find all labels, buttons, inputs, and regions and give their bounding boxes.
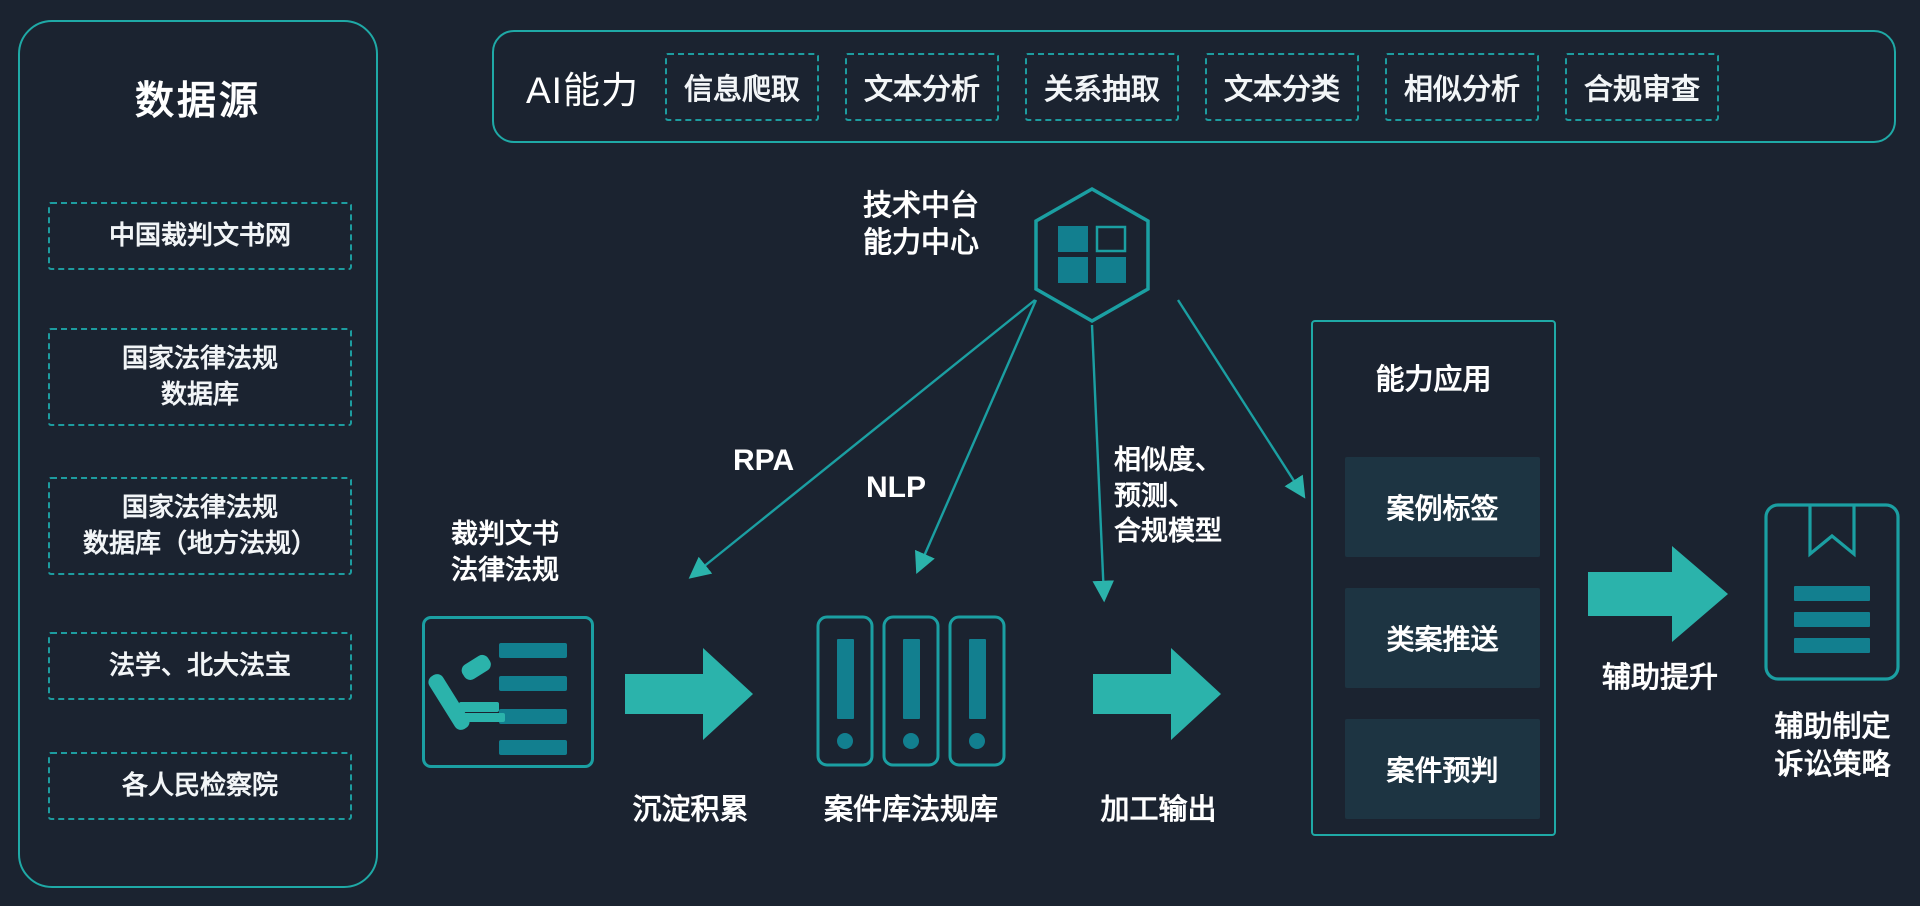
flow-arrow-3-caption: 辅助提升 <box>1580 654 1740 696</box>
hub-label: 技术中台能力中心 <box>836 188 1006 262</box>
ai-capability-panel: AI能力 信息爬取 文本分析 关系抽取 文本分类 相似分析 合规审查 <box>492 30 1896 143</box>
edge-similarity-arrow <box>1092 325 1104 598</box>
edge-label-rpa: RPA <box>733 444 794 478</box>
edge-label-similarity: 相似度、预测、合规模型 <box>1114 443 1222 550</box>
flow-arrow-1-caption: 沉淀积累 <box>608 786 773 828</box>
apply-chip-2[interactable]: 案件预判 <box>1345 719 1540 819</box>
datasource-item-label: 法学、北大法宝 <box>109 648 291 684</box>
datasource-item-4[interactable]: 各人民检察院 <box>48 752 352 820</box>
four-squares-hexagon-icon <box>1030 185 1154 325</box>
ai-chip-2[interactable]: 关系抽取 <box>1025 53 1179 121</box>
datasource-item-label: 国家法律法规数据库 <box>122 341 278 413</box>
datasource-item-0[interactable]: 中国裁判文书网 <box>48 202 352 270</box>
source-document-caption: 裁判文书法律法规 <box>410 517 600 588</box>
datasource-panel: 数据源 中国裁判文书网 国家法律法规数据库 国家法律法规数据库（地方法规） 法学… <box>18 20 378 888</box>
ai-chip-5[interactable]: 合规审查 <box>1565 53 1719 121</box>
ai-chip-1[interactable]: 文本分析 <box>845 53 999 121</box>
datasource-item-label: 各人民检察院 <box>122 768 278 804</box>
datasource-item-3[interactable]: 法学、北大法宝 <box>48 632 352 700</box>
database-caption: 案件库法规库 <box>800 786 1022 828</box>
datasource-item-1[interactable]: 国家法律法规数据库 <box>48 328 352 426</box>
capability-application-title: 能力应用 <box>1313 356 1554 398</box>
diagram-canvas: 数据源 中国裁判文书网 国家法律法规数据库 国家法律法规数据库（地方法规） 法学… <box>0 0 1920 906</box>
output-caption: 辅助制定诉讼策略 <box>1745 708 1920 785</box>
apply-chip-1[interactable]: 类案推送 <box>1345 588 1540 688</box>
edge-nlp-arrow <box>918 300 1036 570</box>
edge-label-nlp: NLP <box>866 471 926 505</box>
flow-arrow-1 <box>625 646 753 742</box>
ai-capability-title: AI能力 <box>526 60 639 114</box>
ai-chip-3[interactable]: 文本分类 <box>1205 53 1359 121</box>
gavel-document-icon <box>422 616 594 768</box>
edge-rpa-arrow <box>692 300 1035 576</box>
bookmark-document-icon <box>1763 502 1901 682</box>
datasource-item-2[interactable]: 国家法律法规数据库（地方法规） <box>48 477 352 575</box>
ai-chip-4[interactable]: 相似分析 <box>1385 53 1539 121</box>
flow-arrow-2 <box>1093 646 1221 742</box>
flow-arrow-3 <box>1588 544 1728 644</box>
server-rack-icon <box>816 615 1006 767</box>
flow-arrow-2-caption: 加工输出 <box>1076 786 1241 828</box>
datasource-item-label: 中国裁判文书网 <box>109 218 291 254</box>
datasource-title: 数据源 <box>20 70 376 126</box>
capability-application-panel: 能力应用 案例标签 类案推送 案件预判 <box>1311 320 1556 836</box>
apply-chip-0[interactable]: 案例标签 <box>1345 457 1540 557</box>
ai-chip-0[interactable]: 信息爬取 <box>665 53 819 121</box>
datasource-item-label: 国家法律法规数据库（地方法规） <box>83 490 317 562</box>
